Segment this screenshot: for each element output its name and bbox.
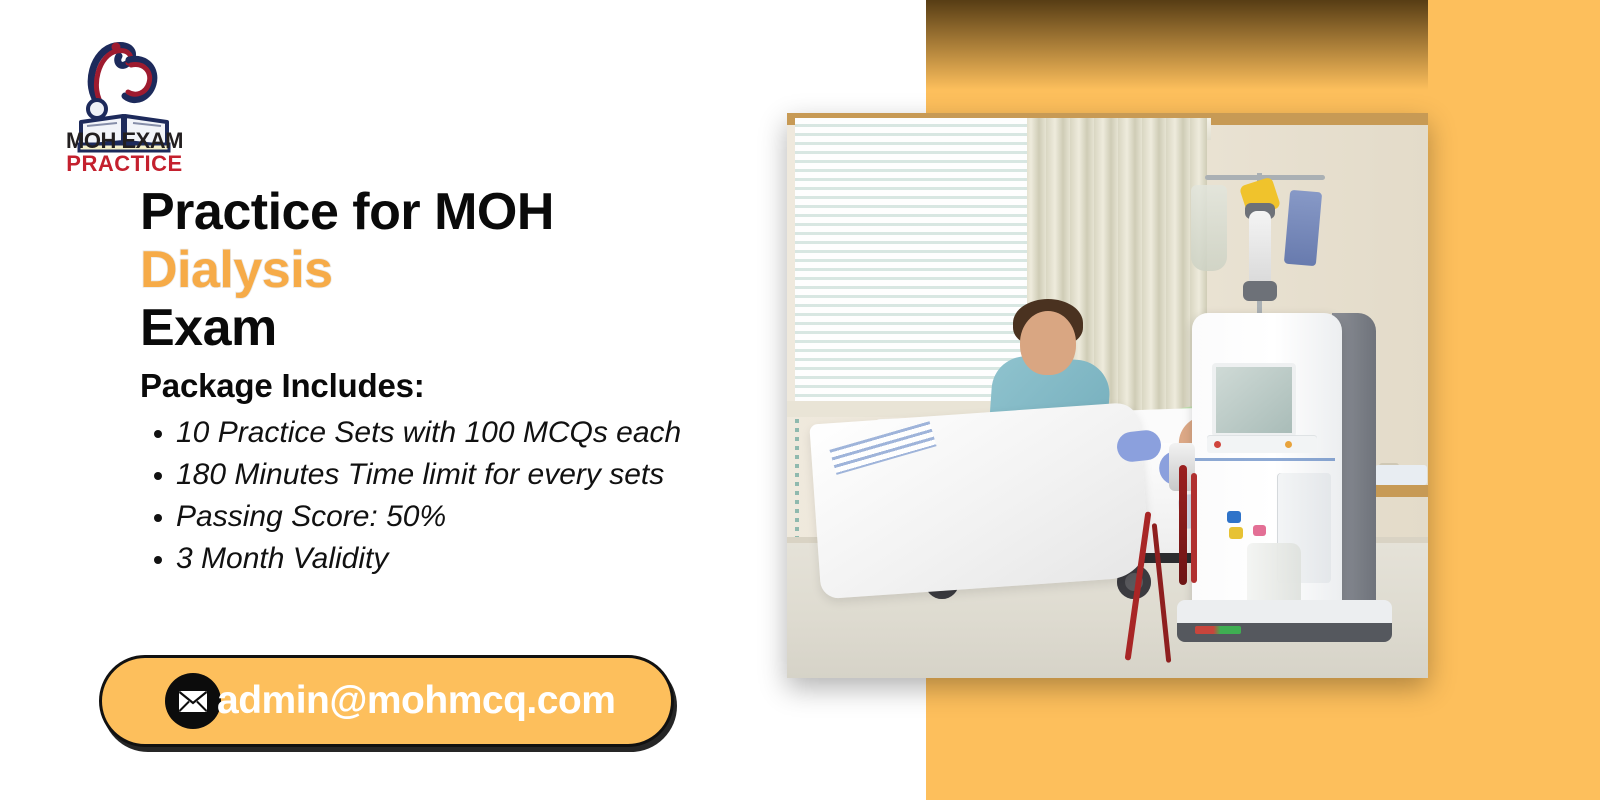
hero-photo-dialysis-scene — [787, 113, 1428, 678]
headline-line-1: Practice for MOH — [140, 183, 780, 241]
brand-logo: x MOH EXAM PRACTICE — [57, 26, 192, 158]
envelope-icon — [165, 673, 221, 729]
headline-line-2-exam-name: Dialysis — [140, 241, 780, 299]
photo-machine-screen — [1212, 363, 1296, 437]
photo-cartridge — [1249, 211, 1271, 289]
photo-blood-tube-a — [1179, 465, 1187, 585]
list-item: Passing Score: 50% — [140, 496, 800, 538]
headline-block: Practice for MOH Dialysis Exam — [140, 183, 780, 357]
brand-name-line2: PRACTICE — [57, 152, 192, 176]
contact-email-text: admin@mohmcq.com — [217, 679, 615, 723]
photo-nurse-face — [1020, 311, 1076, 375]
package-includes-title: Package Includes: — [140, 366, 800, 406]
photo-machine-control-panel — [1207, 435, 1317, 453]
photo-drop-shadow — [926, 0, 1428, 90]
photo-connector-pink — [1253, 525, 1266, 536]
poster-canvas: x MOH EXAM PRACTICE Practice for MOH Dia… — [0, 0, 1600, 800]
photo-machine-base-lights — [1195, 626, 1241, 634]
photo-machine-indicator-red — [1214, 441, 1221, 448]
photo-window — [795, 118, 1027, 410]
headline-line-3: Exam — [140, 299, 780, 357]
photo-machine-indicator-amber — [1285, 441, 1292, 448]
photo-iv-bag — [1191, 185, 1227, 271]
package-feature-list: 10 Practice Sets with 100 MCQs each 180 … — [140, 412, 800, 580]
package-includes-block: Package Includes: 10 Practice Sets with … — [140, 366, 800, 580]
photo-machine-blue-stripe — [1195, 458, 1335, 461]
photo-window-blinds — [795, 118, 1027, 410]
photo-machine-base — [1177, 600, 1392, 642]
contact-email-pill[interactable]: admin@mohmcq.com — [99, 655, 674, 747]
list-item: 3 Month Validity — [140, 538, 800, 580]
photo-blue-bag — [1284, 190, 1322, 267]
list-item: 10 Practice Sets with 100 MCQs each — [140, 412, 800, 454]
photo-blood-tube-b — [1191, 473, 1197, 583]
list-item: 180 Minutes Time limit for every sets — [140, 454, 800, 496]
photo-folded-towels — [1375, 465, 1427, 485]
photo-connector-yellow — [1229, 527, 1243, 539]
photo-side-table — [1373, 485, 1428, 497]
photo-cartridge-cap-bottom — [1243, 281, 1277, 301]
photo-connector-blue — [1227, 511, 1241, 523]
photo-white-sheet — [809, 402, 1150, 600]
brand-name-line1: MOH EXAM — [57, 130, 192, 152]
